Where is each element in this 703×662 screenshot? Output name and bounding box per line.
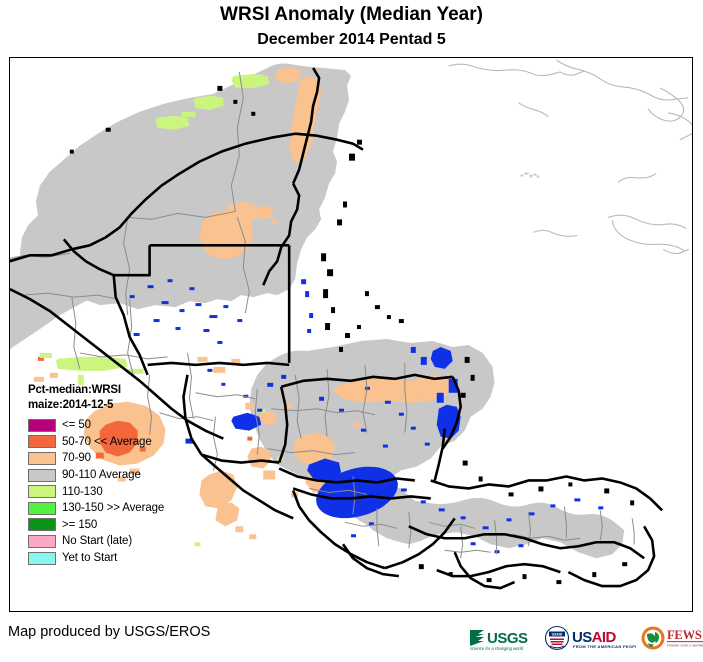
legend-item-gte-150[interactable]: >= 150 <box>28 517 219 534</box>
legend-item-lte-50[interactable]: <= 50 <box>28 417 219 434</box>
legend-item-130-150[interactable]: 130-150 >> Average <box>28 500 219 517</box>
svg-text:FROM THE AMERICAN PEOPLE: FROM THE AMERICAN PEOPLE <box>573 644 636 649</box>
svg-text:USGS: USGS <box>487 630 528 647</box>
legend-label-gte-150: >= 150 <box>62 519 97 531</box>
usgs-logo[interactable]: USGS science for a changing world <box>468 623 540 653</box>
legend-swatch-110-130 <box>28 485 56 498</box>
legend-label-50-70: 50-70 << Average <box>62 436 152 448</box>
legend-item-50-70[interactable]: 50-70 << Average <box>28 434 219 451</box>
legend-label-yet-to-start: Yet to Start <box>62 552 117 564</box>
legend-item-110-130[interactable]: 110-130 <box>28 483 219 500</box>
legend-item-70-90[interactable]: 70-90 <box>28 450 219 467</box>
legend-swatch-yet-to-start <box>28 552 56 565</box>
legend-swatch-no-start <box>28 535 56 548</box>
legend-swatch-90-110 <box>28 469 56 482</box>
fewsnet-logo-mark: FEWS NET FAMINE EARLY WARNING SYSTEMS NE… <box>640 623 703 653</box>
legend-label-110-130: 110-130 <box>62 486 103 498</box>
legend-label-90-110: 90-110 Average <box>62 469 141 481</box>
map-credit: Map produced by USGS/EROS <box>8 624 210 640</box>
usaid-logo[interactable]: USAID USAID FROM THE AMERICAN PEOPLE <box>544 623 636 653</box>
logo-bar: USGS science for a changing world USAID … <box>468 620 698 656</box>
legend-swatch-gte-150 <box>28 518 56 531</box>
legend-label-130-150: 130-150 >> Average <box>62 502 164 514</box>
legend-swatch-130-150 <box>28 502 56 515</box>
map-legend: Pct-median:WRSI maize:2014-12-5 <= 50 50… <box>19 383 219 566</box>
legend-swatch-lte-50 <box>28 419 56 432</box>
legend-swatch-70-90 <box>28 452 56 465</box>
svg-text:science for a changing world: science for a changing world <box>470 646 524 651</box>
legend-swatch-50-70 <box>28 435 56 448</box>
svg-text:FEWS NET: FEWS NET <box>667 628 703 642</box>
legend-heading-line1: Pct-median:WRSI <box>28 383 219 398</box>
page-title: WRSI Anomaly (Median Year) <box>0 4 703 26</box>
fewsnet-logo[interactable]: FEWS NET FAMINE EARLY WARNING SYSTEMS NE… <box>640 623 703 653</box>
legend-label-70-90: 70-90 <box>62 452 91 464</box>
usaid-logo-mark: USAID USAID FROM THE AMERICAN PEOPLE <box>544 623 636 653</box>
legend-item-yet-to-start[interactable]: Yet to Start <box>28 550 219 567</box>
legend-heading-line2: maize:2014-12-5 <box>28 398 219 413</box>
legend-label-no-start: No Start (late) <box>62 535 132 547</box>
svg-text:FAMINE EARLY WARNING SYSTEMS N: FAMINE EARLY WARNING SYSTEMS NETWORK <box>667 644 703 648</box>
map-frame: Pct-median:WRSI maize:2014-12-5 <= 50 50… <box>9 57 693 612</box>
legend-item-no-start[interactable]: No Start (late) <box>28 533 219 550</box>
legend-label-lte-50: <= 50 <box>62 419 91 431</box>
svg-text:USAID: USAID <box>552 633 563 637</box>
usgs-logo-mark: USGS science for a changing world <box>468 623 540 653</box>
legend-item-90-110[interactable]: 90-110 Average <box>28 467 219 484</box>
page-subtitle: December 2014 Pentad 5 <box>0 31 703 49</box>
